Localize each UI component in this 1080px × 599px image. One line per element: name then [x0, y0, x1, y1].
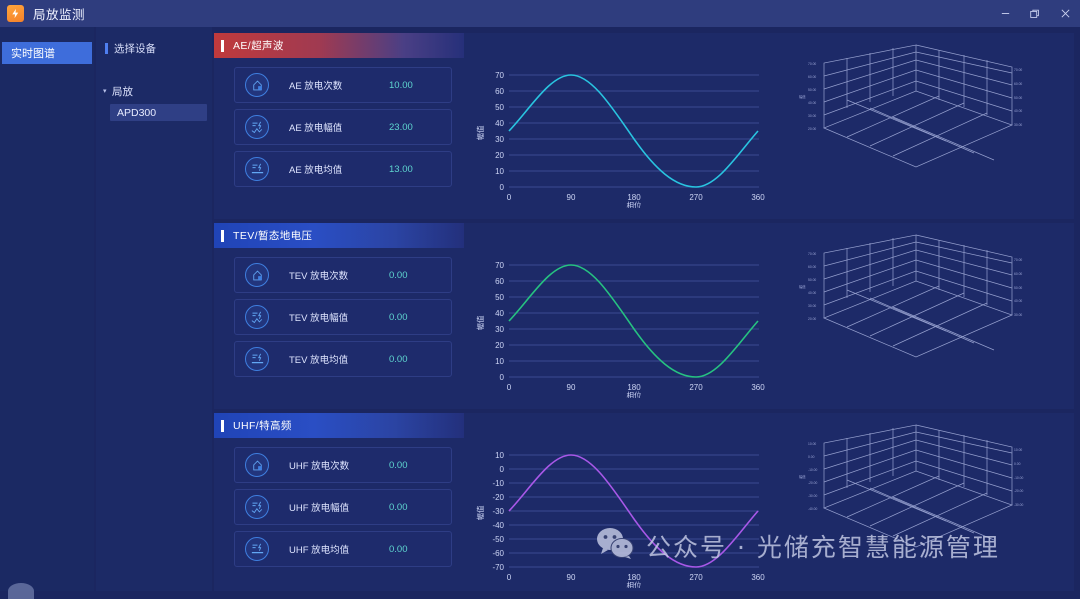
device-tree: ▾ 局放 APD300 — [96, 83, 212, 121]
svg-text:幅值: 幅值 — [475, 505, 485, 520]
metric-value: 0.00 — [389, 544, 451, 555]
svg-text:幅值: 幅值 — [475, 125, 485, 140]
svg-text:40.00: 40.00 — [808, 291, 816, 295]
svg-text:相位: 相位 — [627, 580, 642, 588]
chart-svg: 706050 403020 100 090180 270360 幅值 相位 — [464, 253, 784, 398]
chart-phase-amplitude-uhf: 100-10 -20-30-40 -50-60-70 090180 270360… — [464, 413, 794, 591]
svg-text:-40: -40 — [492, 521, 504, 530]
svg-text:0.00: 0.00 — [1014, 462, 1021, 466]
device-panel-title: 选择设备 — [114, 41, 156, 56]
metric-list-uhf: UHF 放电次数 0.00 UHF 放电幅值 0.00 — [214, 413, 464, 591]
accent-bar-icon — [221, 40, 224, 52]
svg-text:-50: -50 — [492, 535, 504, 544]
lightning-app-icon — [7, 5, 24, 22]
discharge-counter-icon — [245, 263, 269, 287]
chart-svg: 706050 403020 100 090180 270360 幅值 相位 — [464, 63, 784, 208]
svg-text:0: 0 — [507, 573, 512, 582]
svg-text:相位: 相位 — [627, 390, 642, 398]
panel-title: UHF/特高频 — [233, 418, 292, 433]
svg-text:20: 20 — [495, 151, 504, 160]
accent-bar-icon — [221, 230, 224, 242]
title-bar: 局放监测 — [0, 0, 1080, 27]
panel-header-ae: AE/超声波 — [214, 33, 464, 58]
chart-phase-amplitude-tev: 706050 403020 100 090180 270360 幅值 相位 — [464, 223, 794, 409]
svg-text:40.00: 40.00 — [1014, 109, 1022, 113]
discharge-average-icon — [245, 537, 269, 561]
svg-text:50.00: 50.00 — [808, 278, 816, 282]
metric-value: 0.00 — [389, 312, 451, 323]
svg-text:70: 70 — [495, 261, 504, 270]
metric-row[interactable]: UHF 放电均值 0.00 — [234, 531, 452, 567]
svg-text:70.00: 70.00 — [1014, 258, 1022, 262]
metric-value: 0.00 — [389, 270, 451, 281]
svg-text:90: 90 — [567, 383, 576, 392]
svg-text:-10.00: -10.00 — [1014, 476, 1024, 480]
svg-text:70.00: 70.00 — [1014, 68, 1022, 72]
svg-text:40: 40 — [495, 119, 504, 128]
chart-3d-prpd-uhf: 10.000.00-10.00 -20.00-30.00-40.00 10.00… — [794, 413, 1074, 591]
metric-value: 0.00 — [389, 460, 451, 471]
metric-row[interactable]: UHF 放电幅值 0.00 — [234, 489, 452, 525]
left-sidebar: 实时图谱 — [0, 27, 96, 591]
discharge-amplitude-icon — [245, 495, 269, 519]
svg-text:50.00: 50.00 — [808, 88, 816, 92]
svg-text:0: 0 — [500, 183, 505, 192]
svg-text:60: 60 — [495, 87, 504, 96]
svg-text:0: 0 — [507, 383, 512, 392]
svg-text:幅值: 幅值 — [799, 94, 806, 99]
discharge-average-icon — [245, 157, 269, 181]
svg-text:30.00: 30.00 — [808, 114, 816, 118]
svg-text:30.00: 30.00 — [808, 304, 816, 308]
svg-text:40: 40 — [495, 309, 504, 318]
svg-text:360: 360 — [751, 193, 765, 202]
chart-3d-prpd-tev: 70.0060.0050.00 40.0030.0020.00 70.0060.… — [794, 223, 1074, 409]
svg-text:10: 10 — [495, 451, 504, 460]
chart-phase-amplitude-ae: 706050 403020 100 090180 270360 幅值 相位 — [464, 33, 794, 219]
svg-text:-20: -20 — [492, 493, 504, 502]
svg-text:10: 10 — [495, 167, 504, 176]
metric-label: AE 放电均值 — [289, 162, 389, 176]
svg-text:60.00: 60.00 — [1014, 82, 1022, 86]
window-controls — [990, 0, 1080, 27]
discharge-counter-icon — [245, 453, 269, 477]
metric-row[interactable]: UHF 放电次数 0.00 — [234, 447, 452, 483]
panel-ae: AE/超声波 AE 放电次数 10.00 — [214, 33, 1074, 219]
metric-row[interactable]: AE 放电幅值 23.00 — [234, 109, 452, 145]
svg-text:-70: -70 — [492, 563, 504, 572]
chevron-down-icon[interactable]: ▾ — [103, 88, 112, 95]
tree-node-label: 局放 — [112, 84, 133, 99]
sidebar-item-realtime-spectrum[interactable]: 实时图谱 — [2, 42, 92, 64]
svg-text:10.00: 10.00 — [1014, 448, 1022, 452]
svg-text:60.00: 60.00 — [808, 265, 816, 269]
tree-node-partial-discharge[interactable]: ▾ 局放 — [96, 83, 212, 99]
svg-text:0: 0 — [500, 465, 505, 474]
device-select-panel: 选择设备 ▾ 局放 APD300 — [96, 27, 214, 591]
metric-list-tev: TEV 放电次数 0.00 TEV 放电幅值 0.00 — [214, 223, 464, 409]
svg-text:20: 20 — [495, 341, 504, 350]
svg-text:270: 270 — [689, 383, 703, 392]
svg-text:-60: -60 — [492, 549, 504, 558]
svg-text:40.00: 40.00 — [808, 101, 816, 105]
metric-row[interactable]: TEV 放电次数 0.00 — [234, 257, 452, 293]
svg-text:幅值: 幅值 — [799, 284, 806, 289]
svg-text:30: 30 — [495, 135, 504, 144]
device-panel-header: 选择设备 — [96, 41, 212, 56]
discharge-amplitude-icon — [245, 115, 269, 139]
discharge-counter-icon — [245, 73, 269, 97]
metric-label: TEV 放电次数 — [289, 268, 389, 282]
svg-text:90: 90 — [567, 573, 576, 582]
page-title: 局放监测 — [33, 4, 85, 23]
metric-label: TEV 放电均值 — [289, 352, 389, 366]
metric-label: AE 放电幅值 — [289, 120, 389, 134]
metric-value: 0.00 — [389, 502, 451, 513]
metric-value: 0.00 — [389, 354, 451, 365]
discharge-average-icon — [245, 347, 269, 371]
svg-text:0: 0 — [507, 193, 512, 202]
tree-item-label: APD300 — [117, 107, 156, 119]
svg-text:270: 270 — [689, 193, 703, 202]
maximize-button[interactable] — [1020, 0, 1050, 27]
panel-header-uhf: UHF/特高频 — [214, 413, 464, 438]
chart-3d-svg: 70.0060.0050.00 40.0030.0020.00 70.0060.… — [794, 223, 1044, 393]
chart-3d-svg: 70.0060.0050.00 40.0030.0020.00 70.0060.… — [794, 33, 1044, 203]
svg-text:-40.00: -40.00 — [808, 507, 818, 511]
svg-text:10: 10 — [495, 357, 504, 366]
svg-text:270: 270 — [689, 573, 703, 582]
svg-text:-30.00: -30.00 — [808, 494, 818, 498]
svg-text:幅值: 幅值 — [475, 315, 485, 330]
corner-decoration — [8, 583, 34, 599]
metric-value: 10.00 — [389, 80, 451, 91]
metric-row[interactable]: AE 放电次数 10.00 — [234, 67, 452, 103]
metric-row[interactable]: TEV 放电幅值 0.00 — [234, 299, 452, 335]
metric-list-ae: AE 放电次数 10.00 AE 放电幅值 23.00 — [214, 33, 464, 219]
chart-3d-svg: 10.000.00-10.00 -20.00-30.00-40.00 10.00… — [794, 413, 1044, 583]
svg-text:360: 360 — [751, 573, 765, 582]
svg-text:-20.00: -20.00 — [808, 481, 818, 485]
svg-text:30: 30 — [495, 325, 504, 334]
panel-tev: TEV/暂态地电压 TEV 放电次数 0.00 — [214, 223, 1074, 409]
svg-text:60.00: 60.00 — [1014, 272, 1022, 276]
svg-text:-10: -10 — [492, 479, 504, 488]
svg-text:70.00: 70.00 — [808, 252, 816, 256]
svg-text:50: 50 — [495, 103, 504, 112]
svg-text:30.00: 30.00 — [1014, 313, 1022, 317]
metric-label: UHF 放电均值 — [289, 542, 389, 556]
svg-text:70.00: 70.00 — [808, 62, 816, 66]
metric-value: 23.00 — [389, 122, 451, 133]
metric-label: TEV 放电幅值 — [289, 310, 389, 324]
svg-text:50.00: 50.00 — [1014, 286, 1022, 290]
svg-text:相位: 相位 — [627, 200, 642, 208]
panel-title: TEV/暂态地电压 — [233, 228, 312, 243]
metric-label: UHF 放电次数 — [289, 458, 389, 472]
sidebar-item-label: 实时图谱 — [11, 45, 55, 61]
panel-header-tev: TEV/暂态地电压 — [214, 223, 464, 248]
discharge-amplitude-icon — [245, 305, 269, 329]
svg-text:20.00: 20.00 — [808, 317, 816, 321]
svg-text:70: 70 — [495, 71, 504, 80]
metric-row[interactable]: AE 放电均值 13.00 — [234, 151, 452, 187]
main-content: AE/超声波 AE 放电次数 10.00 — [214, 27, 1080, 591]
svg-text:50: 50 — [495, 293, 504, 302]
accent-bar-icon — [221, 420, 224, 432]
svg-text:幅值: 幅值 — [799, 474, 806, 479]
chart-svg: 100-10 -20-30-40 -50-60-70 090180 270360… — [464, 443, 784, 588]
svg-text:-30: -30 — [492, 507, 504, 516]
app-body: 实时图谱 选择设备 ▾ 局放 APD300 AE/超声波 — [0, 27, 1080, 591]
metric-label: UHF 放电幅值 — [289, 500, 389, 514]
metric-label: AE 放电次数 — [289, 78, 389, 92]
svg-text:360: 360 — [751, 383, 765, 392]
close-button[interactable] — [1050, 0, 1080, 27]
panel-title: AE/超声波 — [233, 38, 284, 53]
svg-text:10.00: 10.00 — [808, 442, 816, 446]
tree-item-apd300[interactable]: APD300 — [110, 104, 207, 121]
svg-text:0: 0 — [500, 373, 505, 382]
chart-3d-prpd-ae: 70.0060.0050.00 40.0030.0020.00 70.0060.… — [794, 33, 1074, 219]
metric-value: 13.00 — [389, 164, 451, 175]
svg-text:60.00: 60.00 — [808, 75, 816, 79]
svg-text:-20.00: -20.00 — [1014, 489, 1024, 493]
svg-text:0.00: 0.00 — [808, 455, 815, 459]
metric-row[interactable]: TEV 放电均值 0.00 — [234, 341, 452, 377]
panel-uhf: UHF/特高频 UHF 放电次数 0.00 — [214, 413, 1074, 591]
svg-text:30.00: 30.00 — [1014, 123, 1022, 127]
svg-text:40.00: 40.00 — [1014, 299, 1022, 303]
accent-bar-icon — [105, 43, 108, 54]
svg-text:-30.00: -30.00 — [1014, 503, 1024, 507]
svg-text:20.00: 20.00 — [808, 127, 816, 131]
svg-text:90: 90 — [567, 193, 576, 202]
svg-text:-10.00: -10.00 — [808, 468, 818, 472]
svg-text:50.00: 50.00 — [1014, 96, 1022, 100]
svg-text:60: 60 — [495, 277, 504, 286]
minimize-button[interactable] — [990, 0, 1020, 27]
